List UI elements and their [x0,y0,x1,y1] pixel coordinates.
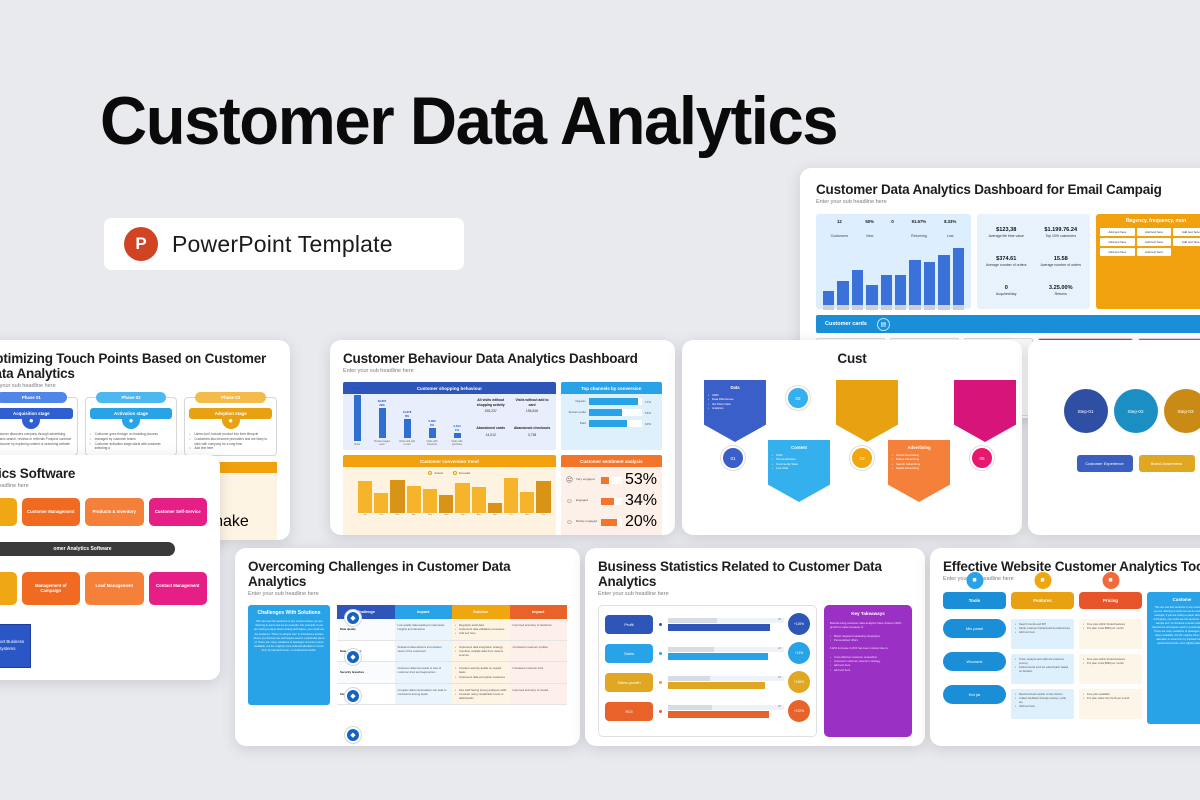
month-label: Jan [358,514,372,516]
stat-dot [657,708,664,715]
step-label: Customer Experience [1077,455,1133,472]
bar-fill [601,498,614,505]
cell-impact1: Scattered data delivers inconsistent vie… [395,641,453,662]
software-node[interactable]: Management of Campaign [22,572,81,605]
list-item: Live Chat [772,466,826,470]
phase-bullets: Customer goes through on boarding proces… [90,432,173,451]
bar [866,285,877,305]
stat-label: Acquired/day [996,292,1016,296]
funnel-label: Visits with purchase [448,440,466,447]
rfm-tile[interactable]: Add text here [1137,238,1172,246]
slide-title: Analytics Software [0,466,207,481]
key-takeaways-panel: Key Takeaways Brands using customer data… [824,605,912,737]
funnel-value: 39,66729% [373,399,391,407]
stat-track-main: 45 [668,711,784,718]
slide-customer-hexagon-map[interactable]: Cust DataCRMData Warehouse3rd Party Data… [682,340,1022,535]
tools-column-header: Tools■ [943,592,1006,609]
legend-dot [453,471,457,475]
hex-node[interactable] [836,380,898,442]
hex-node[interactable] [954,380,1016,442]
hex-name: Data [708,385,762,390]
stat-fill-main [668,653,768,660]
month-label: May [423,514,437,516]
conversion-trend-panel: Customer conversion trend ActualForecast… [343,455,556,535]
slide-subtitle: Enter your sub headline here [248,591,567,597]
side-panel-title: Custome [1152,597,1200,602]
features-icon: ■ [1034,572,1051,589]
list-item: Digital Advertising [892,466,946,470]
slide-subtitle: Enter your sub headline here [816,199,1200,205]
sentiment-row: ☹Very engaged53% [566,471,657,489]
lock-icon: ◆ [345,688,361,704]
stat-item: $1.199.76.24Top 10% customers [1044,227,1077,238]
stat-dot [657,650,664,657]
slide-website-analytics-tools[interactable]: Effective Website Customer Analytics Too… [930,548,1200,746]
legend-item: Actual [428,471,442,475]
slide-title: Business Statistics Related to Customer … [598,559,912,589]
stat-value: $123,38 [989,227,1024,233]
slide-title: Effective Website Customer Analytics Too… [943,559,1200,574]
panel-title: Top channels by conversion [561,382,662,394]
kpi-item: 12Customers [831,219,848,242]
shopping-behaviour-panel: Customer shopping behaviour 212,394100%V… [343,382,556,450]
month-label: Aug [472,514,486,516]
cell-impact1: Customer data loss leads to loss of cust… [395,662,453,683]
customer-cards-bar: Customer cards ▤ [816,315,1200,333]
trend-bar [488,503,502,513]
takeaway-list-1: Better targeted marketing campaignsPerso… [830,634,906,643]
bar-label: Paid [566,422,586,426]
table-row: Data qualityLow quality data leading to … [337,619,567,641]
legend-item: Forecast [453,471,471,475]
hub-node: omer Analytics Software [0,542,175,556]
stat-fill-main [668,624,770,631]
phase-card: Phase 02Activation stage●Customer goes t… [85,397,178,456]
stat-fill-top [668,647,714,652]
bar [953,248,964,305]
funnel-bar [379,408,386,438]
funnel-value: 14,3788% [398,410,416,418]
statistics-bars: Profit2046+126%Sales2234+13%Sales growth… [598,605,817,737]
list-item: Collect feedback through surveys, polls,… [1015,697,1070,705]
funnel-bar [454,433,461,438]
trend-bar [504,478,518,513]
face-icon: ☺ [566,519,573,526]
funnel-stat: Abandoned checkouts3,738 [513,426,550,446]
legend-dot [428,471,432,475]
list-item: Follow trends such as subscription based… [1015,666,1070,674]
list-item: Pro plan costs $999 per month [1083,662,1138,666]
channel-row: Paid10% [566,420,657,427]
funnel-label: Product pages seen [373,440,391,447]
step-circle[interactable]: Step-03 [1164,389,1200,433]
funnel-stat: Visits without add to card196,816 [513,398,550,422]
rfm-title: Regency, frequency, mon [1100,218,1200,224]
stat-row: ROI2045+132% [605,700,810,722]
bar-label: Social media [566,411,586,415]
cell-solution: Conduct security audits on regular basis… [452,662,510,683]
solution-list: Hire staff having strong analyses skills… [455,688,507,701]
cell-impact2: Consistent customer profiles [510,641,568,662]
tool-name-pill[interactable]: Hot jar [943,685,1006,704]
trend-bar [390,480,404,513]
stat-value: 3.25.00% [1049,285,1073,291]
funnel-bar [354,395,361,441]
trend-bar [472,487,486,513]
trend-bar [536,481,550,513]
sentiment-value: 34% [625,492,657,510]
stat-value: 0 [996,285,1016,291]
cell-list: Record actual number of site visitorsCol… [1015,693,1070,709]
sentiment-label: Mostly engaged [576,520,598,524]
bar [909,260,920,305]
top-channels-panel: Top channels by conversion Organic17%Soc… [561,382,662,450]
bar-track [601,498,622,505]
bar [895,275,906,305]
pricing-cell: Free plan availablePro plan starts from … [1079,689,1142,719]
stat-track-main: 46 [668,624,784,631]
cell-solution: Regularly audit dataImplement data valid… [452,619,510,640]
card-icon: ▤ [877,318,890,331]
stat-row: Sales2234+13% [605,642,810,664]
pricing-icon: ■ [1102,572,1119,589]
phase-caption: Phase 01 [0,392,67,403]
bar-fill [589,420,627,427]
side-panel-body: This can use this sentence in any contex… [1152,606,1200,646]
stat-item: $374.61Average number of orders [986,256,1027,267]
tools-side-panel: Custome This can use this sentence in an… [1147,592,1200,724]
sentiment-row: ☺Engaged34% [566,492,657,510]
stat-item: 0Acquired/day [996,285,1016,296]
bar-track [601,477,622,484]
trend-bar [423,489,437,513]
hex-items: CRMData Warehouse3rd Party DataAnalytics [708,393,762,410]
spacer [1079,609,1142,619]
list-item: Analytics [708,406,762,410]
stat-top-value: 20 [778,705,781,708]
stat-label: Returns [1049,292,1073,296]
cell-solution: Implement data integration strategyCombi… [452,641,510,662]
cell-list: Free plan within limited featuresPro pla… [1083,623,1138,631]
kpi-label: Lost [947,234,954,238]
features-cell: Track, analyze and optimize customer jou… [1011,654,1074,684]
cell-impact2: Improved accuracy of decisions [510,619,568,640]
kpi-value: 50% [865,219,874,224]
face-icon: ☹ [566,477,573,484]
bar-track [589,409,642,416]
funnel-step: 212,394100%Visits [348,386,366,446]
funnel-step: 39,66729%Product pages seen [373,399,391,447]
stat-top-value: 20 [778,618,781,621]
takeaways-note: 132% increase in ROI has been noticed du… [830,646,906,650]
slide-subtitle: Enter your sub headline here [598,591,912,597]
stat-track-top: 22 [668,647,784,652]
slide-subtitle: Enter your sub headline here [0,483,207,489]
rfm-tile[interactable]: Add text here [1137,228,1172,236]
kpi-value: 12 [831,219,848,224]
rfm-tile[interactable]: Add text here [1100,228,1135,236]
stat-bar-value: 46 [778,625,781,628]
bar-value: 10% [645,422,657,426]
kpi-item: 8.33%Lost [944,219,956,242]
software-node[interactable]: Products & Inventory [85,498,144,526]
cell-list: Search trends and KPIStudy customer beha… [1015,623,1070,635]
hex-node[interactable]: AdvertisingSocial AdvertisingNative Adve… [888,440,950,502]
month-label: Apr [407,514,421,516]
side-panel-body: This can use this sentence in any contex… [253,620,325,654]
stat-value: 198,237 [472,409,509,413]
software-node[interactable]: edia ment [0,572,17,605]
bar-value: 15% [645,411,657,415]
phase-caption: Phase 02 [96,392,167,403]
hex-step-circle: 03 [850,446,874,470]
stat-track: 2046 [668,618,784,631]
powerpoint-icon: P [124,227,158,261]
spacer [943,609,1006,619]
list-item: Customer discovers company through adver… [0,432,73,446]
tool-name-pill[interactable]: Woorank [943,652,1006,671]
bar-track [589,398,642,405]
kpi-label: Customers [831,234,848,238]
stat-label: Profit [605,615,653,634]
spacer [1011,609,1074,619]
stat-item: 15.58Average number of orders [1040,256,1081,267]
support-business-systems-box: Support Business Systems [0,624,31,668]
software-node[interactable]: ards [0,498,17,526]
tool-name-pill[interactable]: Mix panel [943,619,1006,638]
bar-fill [601,477,609,484]
step-circle[interactable]: Step-02 [1114,389,1158,433]
software-node[interactable]: Lead Management [85,572,144,605]
list-item: Consider using visualization tools or da… [455,692,507,700]
pricing-cell: Free plan within limited featuresPro pla… [1079,654,1142,684]
cell-list: Free plan availablePro plan starts from … [1083,693,1138,701]
stat-track-top: 15 [668,676,784,681]
stat-bar-value: 43 [778,683,781,686]
table-row: InterpretationComplex data interpretatio… [337,684,567,706]
month-label: Nov [520,514,534,516]
kpi-value: 91.67% [911,219,927,224]
month-label: Mar [390,514,404,516]
stat-label: Average number of orders [1040,263,1081,267]
funnel-step: 5,0662%Visits with checkout [423,419,441,447]
stat-value: 14,012 [472,433,509,437]
features-cell: Record actual number of site visitorsCol… [1011,689,1074,719]
month-label: July [455,514,469,516]
trend-bar [439,495,453,513]
funnel-step: 14,3788%Visits with add to cart [398,410,416,447]
tools-column-header: Pricing■ [1079,592,1142,609]
takeaway-list-2: Cost effective customer acquisitionImpro… [830,655,906,664]
list-item: Conduct security audits on regular basis [455,666,507,674]
list-item: Pro plan starts from $.16 per month [1083,697,1138,701]
sentiment-value: 16% [625,534,657,535]
sentiment-row: ☹Not engaged16% [566,534,657,535]
slide-title: Customer Data Analytics Dashboard for Em… [816,182,1200,197]
panel-title: Customer conversion trend [343,455,556,467]
stat-bar-value: 34 [778,654,781,657]
slide-steps[interactable]: Step-01Step-02Step-03 Customer Experienc… [1028,340,1200,535]
stat-track-top: 20 [668,705,784,710]
slide-title: Cust [695,351,1009,366]
solution-list: Conduct security audits on regular basis… [455,666,507,679]
funnel-stat: All visits without shopping activity198,… [472,398,509,422]
sentiment-row: ☺Mostly engaged20% [566,513,657,531]
stat-value: 196,816 [513,409,550,413]
slide-subtitle: Enter your sub headline here [343,368,662,374]
bar-fill [589,398,638,405]
takeaways-intro: Brands using customer data analytics hav… [830,621,906,630]
phase-bullets: Customer discovers company through adver… [0,432,73,446]
slide-customer-behaviour-dashboard[interactable]: Customer Behaviour Data Analytics Dashbo… [330,340,675,535]
stat-value: 3,738 [513,433,550,437]
stat-fill-main [668,682,765,689]
phase-card: Phase 03Adoption stage●Users don't inclu… [184,397,277,456]
phase-caption: Phase 03 [195,392,266,403]
trend-bar [374,493,388,513]
trend-bar [520,492,534,513]
stat-top-value: 15 [778,676,781,679]
hex-step-circle: 01 [721,446,745,470]
phase-card: Phase 01Acquisition stage●Customer disco… [0,397,78,456]
kpi-value: 8.33% [944,219,956,224]
pricing-cell: Free plan within limited featuresPro pla… [1079,619,1142,649]
rfm-tile[interactable]: Add text here [1173,228,1200,236]
sentiment-label: Very engaged [576,478,598,482]
hex-node[interactable]: ContentCMSPersonalizationCommunity Sites… [768,440,830,502]
sentiment-panel: Customer sentiment analysis ☹Very engage… [561,455,662,535]
step-circle[interactable]: Step-01 [1064,389,1108,433]
hex-name: Content [772,445,826,450]
stat-row: Sales growth1543+196% [605,671,810,693]
funnel-bar [429,428,436,438]
software-node[interactable]: Customer Self-Service [149,498,208,526]
cell-list: Free plan within limited featuresPro pla… [1083,658,1138,666]
stat-fill-main [668,711,769,718]
slide-overcoming-challenges[interactable]: Overcoming Challenges in Customer Data A… [235,548,580,746]
funnel-value: 2,1041% [448,424,466,432]
stat-badge: +132% [788,700,810,722]
rfm-panel: Regency, frequency, mon Add text hereAdd… [1096,214,1200,309]
software-node[interactable]: Customer Management [22,498,81,526]
sentiment-label: Engaged [576,499,598,503]
list-item: Combine multiple data from various sourc… [455,649,507,657]
hex-node[interactable]: DataCRMData Warehouse3rd Party DataAnaly… [704,380,766,442]
slide-title: Customer Behaviour Data Analytics Dashbo… [343,351,662,366]
kpi-value: 0 [891,219,893,224]
slide-analytics-software[interactable]: Analytics Software Enter your sub headli… [0,455,220,680]
side-panel-title: Challenges With Solutions [253,610,325,616]
solution-list: Implement data integration strategyCombi… [455,645,507,658]
stat-bar-value: 45 [778,712,781,715]
bar [837,281,848,305]
cell-impact2: Improved accuracy of results [510,684,568,705]
bar [881,275,892,305]
bar-track [601,519,622,526]
bar-value: 17% [645,400,657,404]
stat-dot [657,679,664,686]
list-item: Pro plan costs $899 per month [1083,627,1138,631]
bar-label: Organic [566,400,586,404]
funnel-value: 5,0662% [423,419,441,427]
stat-badge: +126% [788,613,810,635]
rfm-tile[interactable]: Add text here [1100,248,1135,256]
funnel-bar [404,419,411,438]
target-icon: ◆ [345,610,361,626]
kpi-label: New [866,234,873,238]
stat-label: Abandoned checkouts [513,426,550,431]
bar-fill [601,519,617,526]
hex-items: CMSPersonalizationCommunity SitesLive Ch… [772,453,826,470]
software-node[interactable]: Contact Management [149,572,208,605]
month-label: June [439,514,453,516]
stat-fill-top [668,705,712,710]
slide-business-statistics[interactable]: Business Statistics Related to Customer … [585,548,925,746]
table-header-cell: Solution [452,605,510,619]
slide-subtitle: Enter your sub headline here [0,383,277,389]
rfm-tile[interactable]: Add text here [1137,248,1172,256]
rfm-tile[interactable]: Add text here [1173,238,1200,246]
list-item: Customers also become promoters and are … [189,437,272,447]
stat-label: Average number of orders [986,263,1027,267]
sentiment-value: 20% [625,513,657,531]
month-label: Feb [374,514,388,516]
bar-fill [589,409,622,416]
bar-track [589,420,642,427]
funnel-label: Visits with checkout [423,440,441,447]
funnel-stat: Abandoned cards14,012 [472,426,509,446]
stat-item: $123,38Average life time value [989,227,1024,238]
stat-track-main: 43 [668,682,784,689]
takeaways-title: Key Takeaways [830,611,906,616]
hex-step-circle: 02 [786,386,810,410]
cell-list: Track, analyze and optimize customer jou… [1015,658,1070,674]
hex-name: Advertising [892,445,946,450]
list-item: Add text here [1015,631,1070,635]
trend-bar [358,481,372,513]
trend-bar [407,486,421,513]
stat-value: $374.61 [986,256,1027,262]
stat-label: Abandoned cards [472,426,509,431]
stat-track: 2234 [668,647,784,660]
list-item: Add text here [189,446,272,451]
list-item: Track, analyze and optimize customer jou… [1015,658,1070,666]
funnel-step: 2,1041%Visits with purchase [448,424,466,447]
stat-label: Sales growth [605,673,653,692]
stat-value: $1.199.76.24 [1044,227,1077,233]
challenges-side-panel: Challenges With Solutions This can use t… [248,605,330,705]
rfm-tile[interactable]: Add text here [1100,238,1135,246]
stat-label: Top 10% customers [1044,234,1077,238]
stat-fill-top [668,618,717,623]
stat-track-main: 34 [668,653,784,660]
bar [852,270,863,305]
stat-track-top: 20 [668,618,784,623]
list-item: Personalized offers [830,638,906,642]
features-cell: Search trends and KPIStudy customer beha… [1011,619,1074,649]
hex-items: Social AdvertisingNative AdvertisingSear… [892,453,946,470]
table-header-cell: Impact [510,605,568,619]
panel-title: Customer sentiment analysis [561,455,662,467]
stat-value: 15.58 [1040,256,1081,262]
cell-solution: Hire staff having strong analyses skills… [452,684,510,705]
solution-list: Regularly audit dataImplement data valid… [455,623,507,636]
stat-fill-top [668,676,710,681]
stat-badge: +196% [788,671,810,693]
month-label: Dec [536,514,550,516]
bar [924,262,935,305]
stat-badge: +13% [788,642,810,664]
